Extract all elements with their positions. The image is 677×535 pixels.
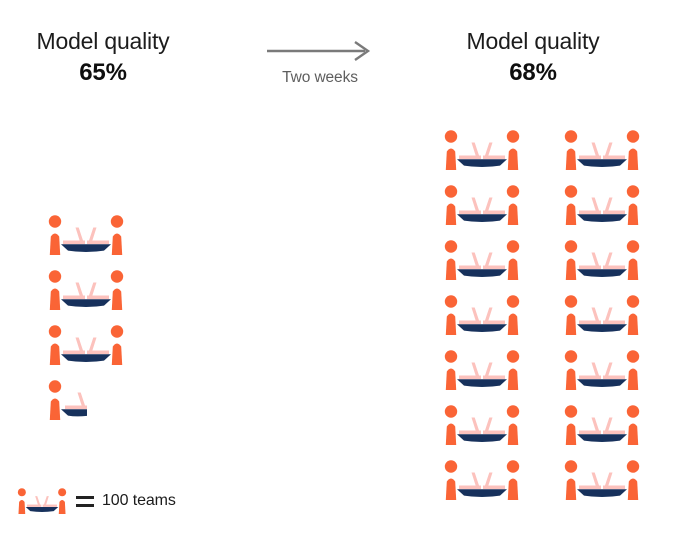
team-table-icon	[562, 349, 642, 391]
team-table-icon	[562, 184, 642, 226]
team-table-icon	[46, 214, 126, 256]
transition-caption: Two weeks	[255, 69, 385, 87]
team-table-icon	[46, 269, 126, 311]
team-table-icon	[442, 294, 522, 336]
panel-heading-before: Model quality 65%	[4, 27, 202, 88]
team-table-icon	[562, 404, 642, 446]
panel-value-before: 65%	[4, 58, 202, 88]
team-table-icon	[442, 404, 522, 446]
team-table-icon	[442, 349, 522, 391]
team-table-icon	[442, 459, 522, 501]
team-table-icon	[562, 239, 642, 281]
team-table-icon	[442, 239, 522, 281]
legend-text: 100 teams	[102, 492, 176, 510]
team-table-icon	[562, 459, 642, 501]
panel-heading-after: Model quality 68%	[434, 27, 632, 88]
pictogram-group-before	[46, 214, 136, 414]
transition-group: Two weeks	[255, 40, 385, 87]
team-table-icon	[562, 294, 642, 336]
arrow-right-icon	[265, 40, 375, 62]
equals-icon	[76, 496, 94, 507]
panel-label-before: Model quality	[4, 27, 202, 56]
legend: 100 teams	[16, 487, 176, 515]
team-table-icon	[442, 129, 522, 171]
pictogram-group-after	[442, 129, 652, 519]
team-table-icon	[46, 324, 126, 366]
team-table-icon-half	[46, 379, 126, 421]
panel-label-after: Model quality	[434, 27, 632, 56]
infographic-canvas: Model quality 65% Model quality 68% Two …	[0, 0, 677, 535]
team-table-icon	[442, 184, 522, 226]
panel-value-after: 68%	[434, 58, 632, 88]
team-table-icon	[562, 129, 642, 171]
team-table-icon	[16, 487, 68, 515]
